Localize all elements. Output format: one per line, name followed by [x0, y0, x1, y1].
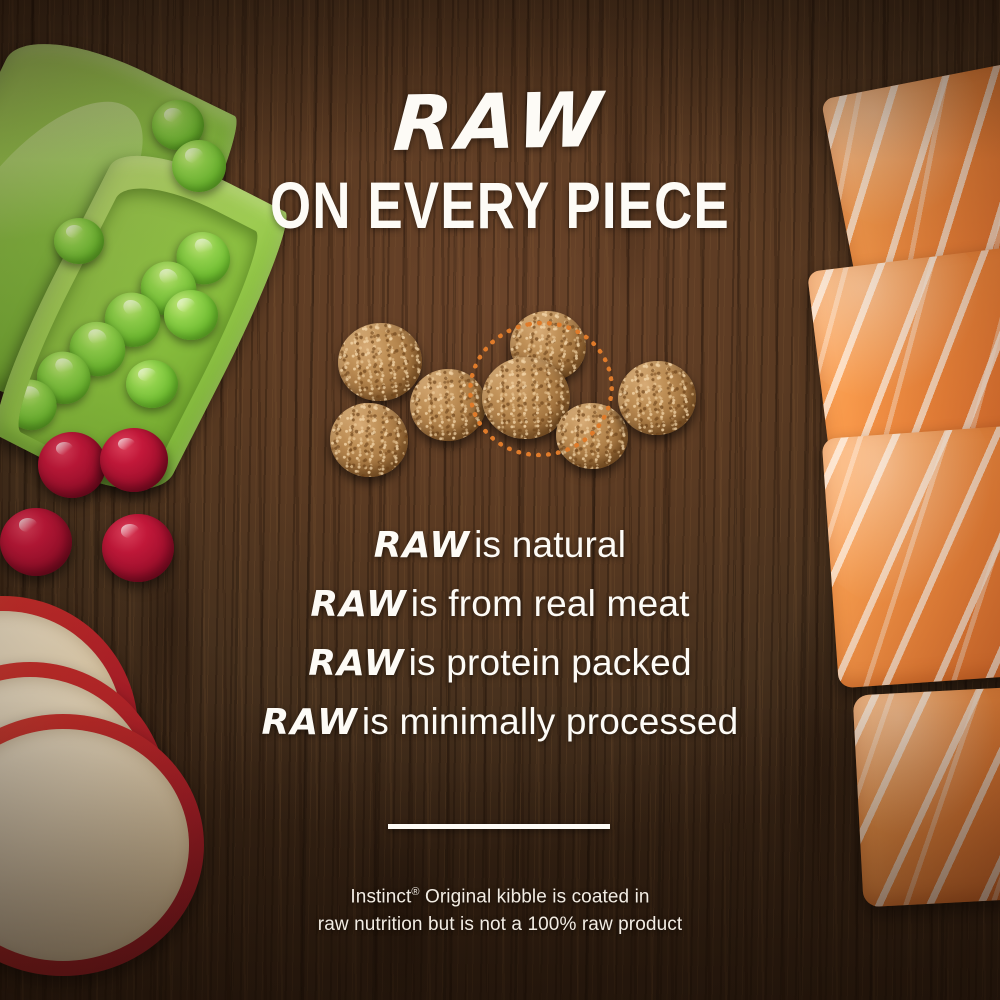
- benefit-raw-word: RAW: [310, 584, 410, 625]
- footnote-line-1: Instinct® Original kibble is coated in: [190, 878, 810, 911]
- benefit-raw-word: RAW: [374, 525, 474, 566]
- brand-name: Instinct: [350, 886, 411, 907]
- benefit-line: RAWis protein packed: [180, 634, 820, 693]
- benefit-line: RAWis minimally processed: [180, 693, 820, 752]
- benefit-text: is from real meat: [411, 583, 690, 624]
- registered-trademark-icon: ®: [411, 886, 419, 898]
- kibble-piece: [327, 400, 411, 481]
- footnote-line-2: raw nutrition but is not a 100% raw prod…: [190, 911, 810, 939]
- benefit-raw-word: RAW: [308, 643, 408, 684]
- benefit-list: RAWis natural RAWis from real meat RAWis…: [180, 516, 820, 752]
- benefit-line: RAWis from real meat: [180, 575, 820, 634]
- kibble-cluster: [330, 305, 710, 495]
- footnote-line-1-text: Original kibble is coated in: [420, 886, 650, 907]
- benefit-raw-word: RAW: [262, 702, 362, 743]
- divider-rule: [388, 824, 610, 829]
- kibble-piece: [615, 358, 699, 439]
- headline-on-every-piece: ON EVERY PIECE: [252, 172, 748, 238]
- benefit-text: is natural: [474, 524, 626, 565]
- benefit-line: RAWis natural: [180, 516, 820, 575]
- kibble-piece: [408, 367, 488, 443]
- benefit-text: is protein packed: [409, 642, 692, 683]
- headline-script-raw: RAW: [187, 78, 813, 166]
- footnote-disclaimer: Instinct® Original kibble is coated in r…: [190, 878, 810, 939]
- raw-on-every-piece-poster: RAW ON EVERY PIECE RAWis natural RAWis f…: [0, 0, 1000, 1000]
- center-content-column: RAW ON EVERY PIECE RAWis natural RAWis f…: [190, 0, 810, 1000]
- benefit-text: is minimally processed: [362, 701, 739, 742]
